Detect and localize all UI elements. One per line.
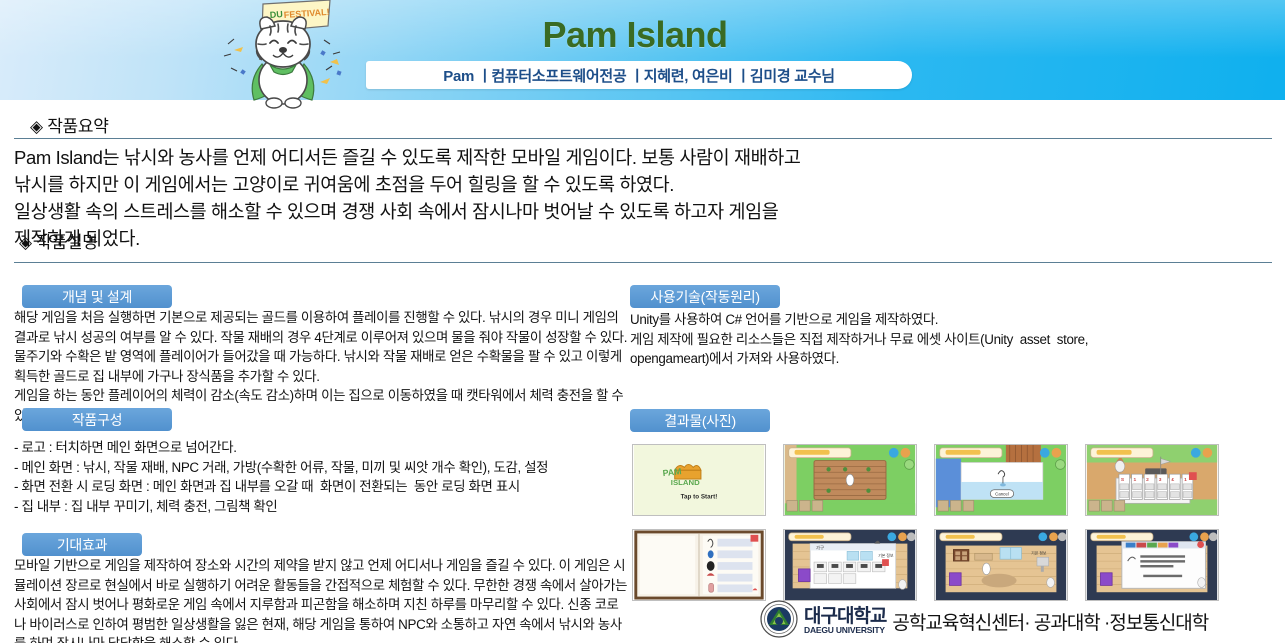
- summary-heading: ◈ 작품요약: [30, 112, 109, 137]
- subtitle-text: Pam ㅣ컴퓨터소프트웨어전공 ㅣ지혜련, 여은비 ㅣ김미경 교수님: [443, 65, 835, 86]
- badge-concept-design: 개념 및 설계: [22, 285, 172, 308]
- expected-effect-body: 모바일 기반으로 게임을 제작하여 장소와 시간의 제약을 받지 않고 언제 어…: [14, 556, 629, 643]
- poster-header: DU FESTIVAL!: [0, 0, 1285, 100]
- thumbnail-logo-screen[interactable]: PAM ISLAND Tap to Start!: [632, 444, 766, 516]
- thumbnail-dialog-screen[interactable]: [1085, 529, 1219, 601]
- svg-text:1: 1: [1134, 477, 1137, 483]
- svg-text:가구: 가구: [816, 544, 824, 551]
- badge-results-photos: 결과물(사진): [630, 409, 770, 432]
- mascot-tiger-icon: DU FESTIVAL!: [200, 0, 365, 110]
- logo-line1: PAM: [662, 466, 682, 478]
- svg-text:1: 1: [1184, 477, 1187, 483]
- summary-line-2: 낚시를 하지만 이 게임에서는 고양이로 귀여움에 초점을 두어 힐링을 할 수…: [14, 171, 1272, 198]
- footer-university-en: DAEGU UNIVERSITY: [804, 625, 886, 635]
- thumbnail-fishing-minigame-screen[interactable]: Cancel: [934, 444, 1068, 516]
- logo-caption: Tap to Start!: [681, 493, 718, 500]
- summary-line-3: 일상생활 속의 스트레스를 해소할 수 있으며 경쟁 사회 속에서 잠시나마 벗…: [14, 198, 1272, 225]
- subtitle-bar: Pam ㅣ컴퓨터소프트웨어전공 ㅣ지혜련, 여은비 ㅣ김미경 교수님: [366, 61, 912, 89]
- badge-used-technology: 사용기술(작동원리): [630, 285, 780, 308]
- footer: 대구대학교 DAEGU UNIVERSITY 공학교육혁신센터· 공과대학 ·정…: [760, 600, 1208, 643]
- svg-text:기본 정보: 기본 정보: [1031, 550, 1047, 555]
- svg-text:Cancel: Cancel: [995, 492, 1009, 497]
- logo-line2: ISLAND: [671, 478, 700, 487]
- svg-text:3: 3: [1159, 477, 1162, 483]
- description-heading: ◈ 작품설명: [19, 228, 98, 253]
- thumbnail-furniture-shop-screen[interactable]: 가구 기본 정보: [783, 529, 917, 601]
- footer-university-block: 대구대학교 DAEGU UNIVERSITY: [804, 608, 886, 635]
- summary-body: Pam Island는 낚시와 농사를 언제 어디서든 즐길 수 있도록 제작한…: [14, 144, 1272, 252]
- footer-university-kr: 대구대학교: [804, 608, 886, 625]
- svg-text:£: £: [1171, 477, 1174, 483]
- svg-text:기본 정보: 기본 정보: [878, 553, 894, 558]
- badge-expected-effect: 기대효과: [22, 533, 142, 556]
- summary-divider: [14, 138, 1272, 139]
- thumbnail-house-interior-screen[interactable]: 기본 정보: [934, 529, 1068, 601]
- poster-root: DU FESTIVAL!: [0, 0, 1285, 643]
- thumbnail-npc-shop-screen[interactable]: S12 3£1: [1085, 444, 1219, 516]
- flag-text: DU: [269, 9, 283, 20]
- used-technology-body: Unity를 사용하여 C# 언어를 기반으로 게임을 제작하였다. 게임 제작…: [630, 310, 1150, 369]
- summary-line-4: 제작하게 되었다.: [14, 225, 1272, 252]
- svg-text:2: 2: [1146, 477, 1149, 483]
- description-divider: [14, 262, 1272, 263]
- thumbnail-picture-book-screen[interactable]: [632, 529, 766, 601]
- composition-body: - 로고 : 터치하면 메인 화면으로 넘어간다. - 메인 화면 : 낚시, …: [14, 438, 629, 516]
- footer-departments: 공학교육혁신센터· 공과대학 ·정보통신대학: [892, 608, 1208, 635]
- badge-composition: 작품구성: [22, 408, 172, 431]
- summary-line-1: Pam Island는 낚시와 농사를 언제 어디서든 즐길 수 있도록 제작한…: [14, 144, 1272, 171]
- page-title: Pam Island: [420, 14, 850, 56]
- daegu-university-logo-icon: [760, 600, 798, 643]
- thumbnail-farm-screen[interactable]: [783, 444, 917, 516]
